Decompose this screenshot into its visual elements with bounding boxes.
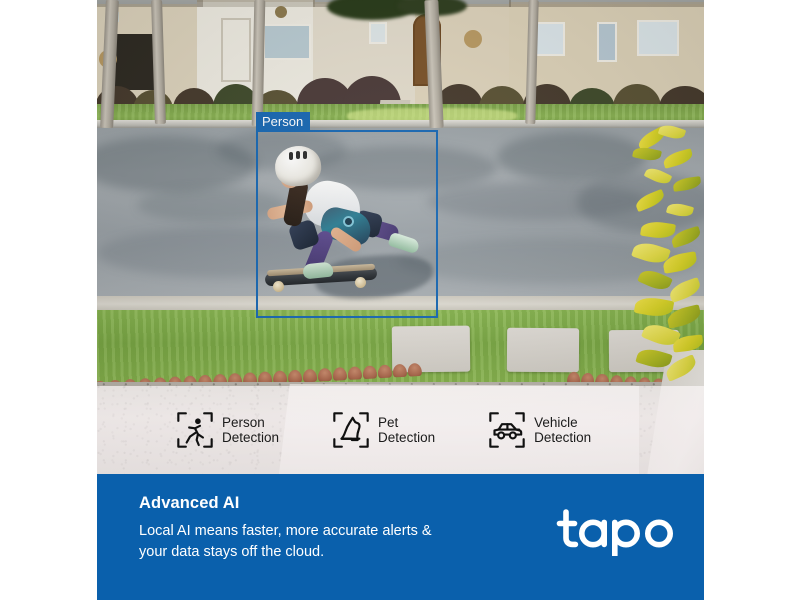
feature-pet-detection: Pet Detection [331, 410, 435, 450]
brick [407, 363, 422, 377]
feature-vehicle-detection: Vehicle Detection [487, 410, 591, 450]
leaf [666, 201, 694, 219]
brick [377, 365, 392, 379]
leaf [662, 148, 694, 169]
leaf [672, 176, 701, 192]
window [263, 24, 311, 60]
leaf [635, 346, 672, 372]
feature-label: Pet Detection [378, 415, 435, 446]
brick [392, 364, 407, 378]
product-marketing-image: Person Perso [0, 0, 800, 600]
pet-detection-icon [331, 410, 371, 450]
brick [332, 367, 347, 381]
bottom-banner: Advanced AI Local AI means faster, more … [97, 474, 704, 600]
wall-medallion [275, 6, 287, 18]
person-detection-icon [175, 410, 215, 450]
leaf [667, 277, 703, 303]
leaf [634, 189, 667, 212]
person-detection-bounding-box: Person [256, 130, 438, 318]
window [637, 20, 679, 56]
detection-label: Person [256, 112, 310, 132]
leaf [644, 165, 673, 187]
brick [303, 369, 318, 383]
feature-person-detection: Person Detection [175, 410, 279, 450]
banner-subtitle: Local AI means faster, more accurate ale… [139, 521, 519, 563]
window [597, 22, 617, 62]
yellow-shrub [633, 130, 704, 380]
tapo-logo [556, 504, 686, 556]
vehicle-detection-icon [487, 410, 527, 450]
stepping-stone [507, 328, 579, 373]
leaf [634, 295, 675, 319]
camera-scene-photo: Person Perso [97, 0, 704, 474]
leaf [632, 145, 662, 163]
brick [347, 366, 362, 380]
window [369, 22, 387, 44]
feature-label: Person Detection [222, 415, 279, 446]
wall-medallion [464, 30, 482, 48]
brick [318, 368, 333, 382]
detection-feature-strip: Person Detection Pet Detection [97, 386, 704, 474]
image-card: Person Perso [97, 0, 704, 600]
brick [362, 365, 377, 379]
leaf [640, 220, 676, 241]
feature-label: Vehicle Detection [534, 415, 591, 446]
front-door-white [221, 18, 251, 82]
